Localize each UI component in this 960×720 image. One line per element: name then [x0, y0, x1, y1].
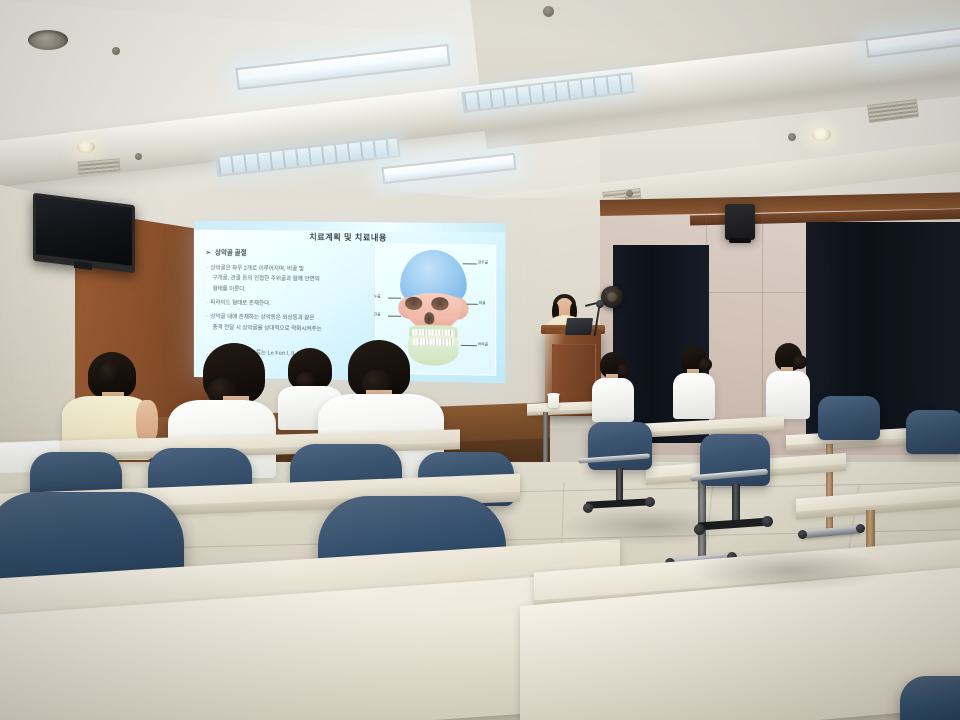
sprinkler-head-1 [112, 47, 120, 55]
recessed-downlight-2 [812, 128, 831, 141]
skull-leader-line-3 [461, 345, 477, 346]
skull-label-mandible: 하악골 [478, 342, 488, 347]
skull-label-frontal: 전두골 [478, 260, 488, 265]
lecture-hall-photo: 치료계획 및 치료내용 ➢상악골 골절 ·상악골은 좌우 2개로 이루어지며, … [0, 0, 960, 720]
slide-bullet-2: ·피라미드 형태로 존재한다. [206, 298, 380, 311]
floor-shadow-2 [690, 548, 890, 592]
sprinkler-head-2 [135, 153, 142, 160]
tv-screen [36, 196, 132, 266]
skull-label-lacrimal: 누골 [374, 294, 381, 299]
sprinkler-head-4 [788, 133, 796, 141]
sprinkler-head-3 [543, 6, 554, 17]
chair-foreground-3[interactable] [900, 676, 960, 720]
right-table-2-caster-2 [856, 524, 865, 533]
bullet-1-line-3: 형태를 이룬다. [206, 284, 380, 297]
slide-title: 치료계획 및 치료내용 [194, 230, 505, 245]
attendee-6-bun [699, 358, 712, 371]
slide-heading-text: 상악골 골절 [215, 250, 247, 257]
recessed-downlight-1 [77, 141, 95, 153]
slide-bullet-1: ·상악골은 좌우 2개로 이루어지며, 비골 및 구개골, 관골 등의 인접한 … [206, 263, 380, 296]
right-table-2-caster-1 [798, 530, 807, 539]
skull-label-nasal: 비골 [479, 301, 486, 306]
bullet-3-line-2: 충격 전달 시 상악골을 상대적으로 약화시켜주는 [206, 322, 380, 335]
paper-cup-rim [547, 393, 560, 396]
skull-lower-teeth [413, 338, 453, 346]
skull-orbit-right [431, 297, 448, 310]
skull-leader-line-1 [463, 263, 477, 264]
skull-nasal-aperture [424, 312, 434, 324]
chair-right-4[interactable] [906, 410, 960, 454]
laptop-on-podium[interactable] [565, 318, 593, 335]
attendee-5-bun [617, 364, 630, 377]
bullet-dot-icon: · [206, 265, 208, 271]
microphone-icon [596, 300, 604, 308]
slide-bullet-3: ·상악골 내에 존재하는 상악동은 외상등과 같은 충격 전달 시 상악골을 상… [206, 312, 380, 335]
skull-leader-line-2 [467, 304, 478, 305]
skull-orbit-left [405, 297, 422, 310]
sprinkler-head-5 [626, 190, 633, 197]
bullet-1-line-1: 상악골은 좌우 2개로 이루어지며, 비골 및 [210, 265, 303, 272]
wall-seam-3 [700, 292, 808, 293]
chair-right-1-post [616, 468, 623, 504]
chair-right-3[interactable] [818, 396, 880, 440]
skull-label-zygoma: 관골 [374, 312, 381, 317]
attendee-6-torso [673, 373, 715, 419]
arrow-bullet-icon: ➢ [206, 249, 211, 256]
speaker-bracket [729, 238, 751, 243]
bullet-dot-icon: · [206, 300, 208, 306]
skull-leader-line-4 [388, 298, 401, 299]
attendee-1-bun [98, 363, 120, 383]
wall-clock [601, 286, 623, 308]
slide-body: ➢상악골 골절 ·상악골은 좌우 2개로 이루어지며, 비골 및 구개골, 관골… [206, 247, 380, 340]
attendee-7-bun [793, 355, 807, 369]
attendee-7-torso [766, 371, 810, 419]
slide-heading: ➢상악골 골절 [206, 247, 380, 259]
skull-leader-line-5 [388, 316, 401, 317]
recessed-can-light-1 [28, 30, 68, 50]
attendee-5-torso [592, 378, 634, 422]
clock-face [607, 292, 618, 303]
paper-cup [548, 394, 559, 408]
wall-speaker [725, 204, 755, 240]
bullet-dot-icon: · [206, 314, 208, 320]
bullet-2-line-1: 피라미드 형태로 존재한다. [210, 300, 270, 307]
wall-seam-2 [762, 216, 763, 448]
floor-shadow-1 [560, 506, 740, 546]
chair-right-2-caster-2 [762, 516, 773, 527]
bullet-3-line-1: 상악골 내에 존재하는 상악동은 외상등과 같은 [210, 314, 314, 322]
chair-right-1[interactable] [588, 422, 652, 470]
